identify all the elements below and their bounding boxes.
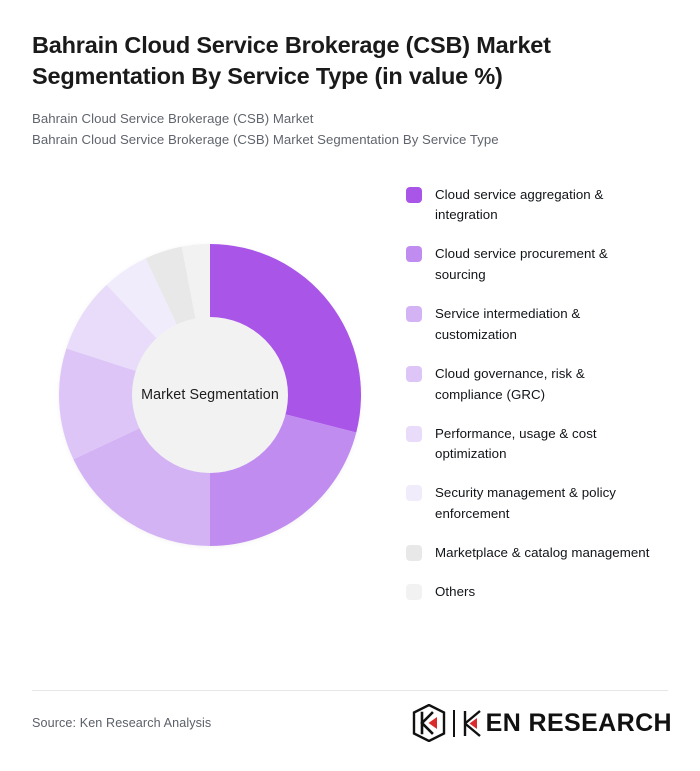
brand-k-icon <box>463 710 485 737</box>
donut-chart-wrap: Market Segmentation <box>28 181 388 601</box>
legend-label: Security management & policy enforcement <box>435 483 655 524</box>
page-title: Bahrain Cloud Service Brokerage (CSB) Ma… <box>32 30 612 92</box>
brand-separator <box>453 710 455 737</box>
legend-label: Service intermediation & customization <box>435 304 655 345</box>
legend-swatch <box>406 426 422 442</box>
legend-item[interactable]: Service intermediation & customization <box>406 304 672 345</box>
subtitle-line-1: Bahrain Cloud Service Brokerage (CSB) Ma… <box>32 109 668 130</box>
brand-name: EN RESEARCH <box>486 711 672 736</box>
donut-chart-svg <box>59 244 361 546</box>
chart-card: Bahrain Cloud Service Brokerage (CSB) Ma… <box>0 0 700 771</box>
legend-label: Cloud service aggregation & integration <box>435 185 655 226</box>
legend-swatch <box>406 187 422 203</box>
legend-item[interactable]: Marketplace & catalog management <box>406 543 672 564</box>
legend-item[interactable]: Security management & policy enforcement <box>406 483 672 524</box>
chart-body: Market Segmentation Cloud service aggreg… <box>0 181 700 651</box>
legend-item[interactable]: Cloud governance, risk & compliance (GRC… <box>406 364 672 405</box>
legend-swatch <box>406 584 422 600</box>
legend-label: Performance, usage & cost optimization <box>435 424 655 465</box>
legend-item[interactable]: Performance, usage & cost optimization <box>406 424 672 465</box>
ken-research-badge-icon <box>412 704 446 742</box>
legend-label: Cloud governance, risk & compliance (GRC… <box>435 364 655 405</box>
legend-item[interactable]: Cloud service aggregation & integration <box>406 185 672 226</box>
legend-swatch <box>406 246 422 262</box>
legend-swatch <box>406 485 422 501</box>
chart-footer: Source: Ken Research Analysis EN RESEARC… <box>32 701 672 745</box>
donut-chart: Market Segmentation <box>59 244 361 546</box>
footer-divider <box>32 690 668 691</box>
legend-swatch <box>406 306 422 322</box>
legend-swatch <box>406 545 422 561</box>
subtitle-block: Bahrain Cloud Service Brokerage (CSB) Ma… <box>32 109 668 151</box>
donut-hole <box>132 317 288 473</box>
legend-label: Cloud service procurement & sourcing <box>435 244 655 285</box>
legend-label: Others <box>435 582 475 603</box>
chart-legend: Cloud service aggregation & integrationC… <box>388 181 672 622</box>
subtitle-line-2: Bahrain Cloud Service Brokerage (CSB) Ma… <box>32 130 668 151</box>
source-text: Source: Ken Research Analysis <box>32 716 211 730</box>
brand-text-wrap: EN RESEARCH <box>463 710 672 737</box>
legend-item[interactable]: Cloud service procurement & sourcing <box>406 244 672 285</box>
brand-logo: EN RESEARCH <box>412 704 672 742</box>
chart-header: Bahrain Cloud Service Brokerage (CSB) Ma… <box>0 0 700 151</box>
legend-item[interactable]: Others <box>406 582 672 603</box>
legend-label: Marketplace & catalog management <box>435 543 649 564</box>
legend-swatch <box>406 366 422 382</box>
